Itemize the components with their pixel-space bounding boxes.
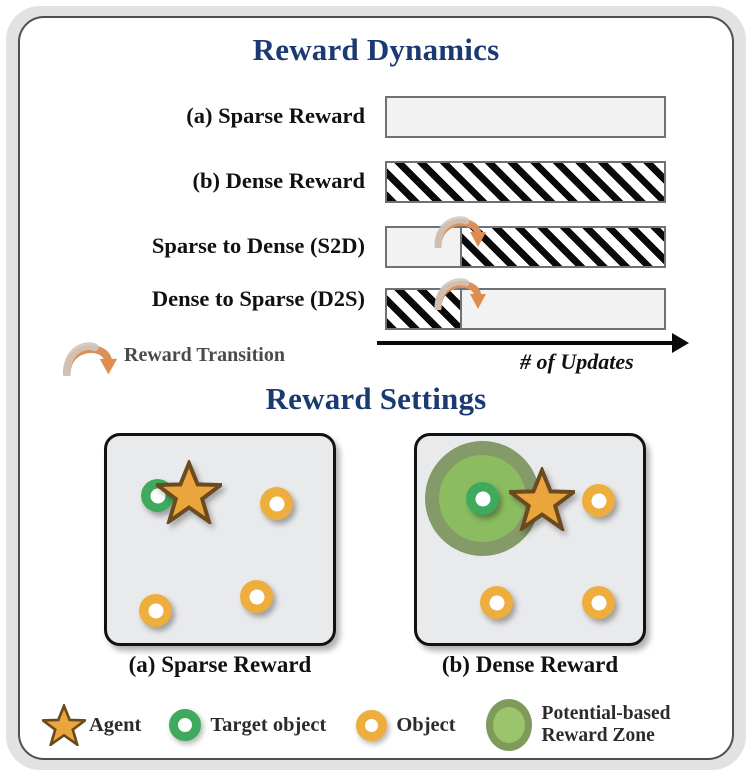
legend-label-target-object: Target object: [210, 714, 326, 737]
legend-label-reward-zone-line2: Reward Zone: [542, 725, 655, 746]
x-axis-label: # of Updates: [520, 349, 634, 375]
green-ring-icon: [169, 709, 201, 741]
reward-settings-title: Reward Settings: [0, 381, 752, 417]
star-icon: [42, 704, 86, 746]
reward-transition-legend-icon: [62, 336, 120, 376]
object-marker: [582, 484, 615, 517]
legend-item-target-object: Target object: [169, 709, 326, 741]
scene-panel-dense-reward: [414, 433, 646, 646]
bar-segment-dense: [387, 290, 462, 328]
panel-caption-dense-reward: (b) Dense Reward: [390, 652, 670, 678]
legend-item-reward-zone: Potential-based Reward Zone: [486, 699, 671, 751]
legend-label-agent: Agent: [89, 714, 141, 737]
bar-segment-dense: [387, 163, 664, 201]
bar-dense-to-sparse: [385, 288, 666, 330]
row-label-sparse-reward: (a) Sparse Reward: [35, 103, 365, 129]
reward-dynamics-title: Reward Dynamics: [0, 32, 752, 68]
bar-sparse-to-dense: [385, 226, 666, 268]
legend-label-reward-zone-line1: Potential-based: [542, 703, 671, 724]
object-marker: [480, 586, 513, 619]
legend-label-object: Object: [396, 714, 455, 737]
agent-star-icon: [509, 467, 575, 531]
bar-segment-sparse: [462, 290, 664, 328]
bar-segment-sparse: [387, 228, 462, 266]
legend-label-reward-zone: Potential-based Reward Zone: [542, 703, 671, 747]
object-marker: [260, 487, 293, 520]
object-marker: [139, 594, 172, 627]
figure-root: Reward Dynamics (a) Sparse Reward (b) De…: [0, 0, 752, 776]
orange-ring-icon: [356, 710, 387, 741]
row-label-dense-to-sparse: Dense to Sparse (D2S): [35, 286, 365, 312]
bar-dense-reward: [385, 161, 666, 203]
bar-sparse-reward: [385, 96, 666, 138]
bar-segment-sparse: [387, 98, 664, 136]
legend-item-agent: Agent: [42, 704, 141, 746]
scene-panel-sparse-reward: [104, 433, 336, 646]
bar-segment-dense: [462, 228, 664, 266]
object-marker: [582, 586, 615, 619]
row-label-dense-reward: (b) Dense Reward: [35, 168, 365, 194]
x-axis-line: [377, 341, 674, 345]
figure-legend: Agent Target object Object Potential-bas…: [36, 694, 716, 756]
target-object-marker: [466, 482, 499, 515]
reward-zone-icon: [486, 699, 532, 751]
object-marker: [240, 580, 273, 613]
panel-caption-sparse-reward: (a) Sparse Reward: [80, 652, 360, 678]
row-label-sparse-to-dense: Sparse to Dense (S2D): [35, 233, 365, 259]
legend-item-object: Object: [356, 710, 455, 741]
agent-star-icon: [156, 460, 222, 524]
x-axis-arrowhead-icon: [672, 333, 689, 353]
reward-transition-legend-label: Reward Transition: [124, 344, 285, 367]
